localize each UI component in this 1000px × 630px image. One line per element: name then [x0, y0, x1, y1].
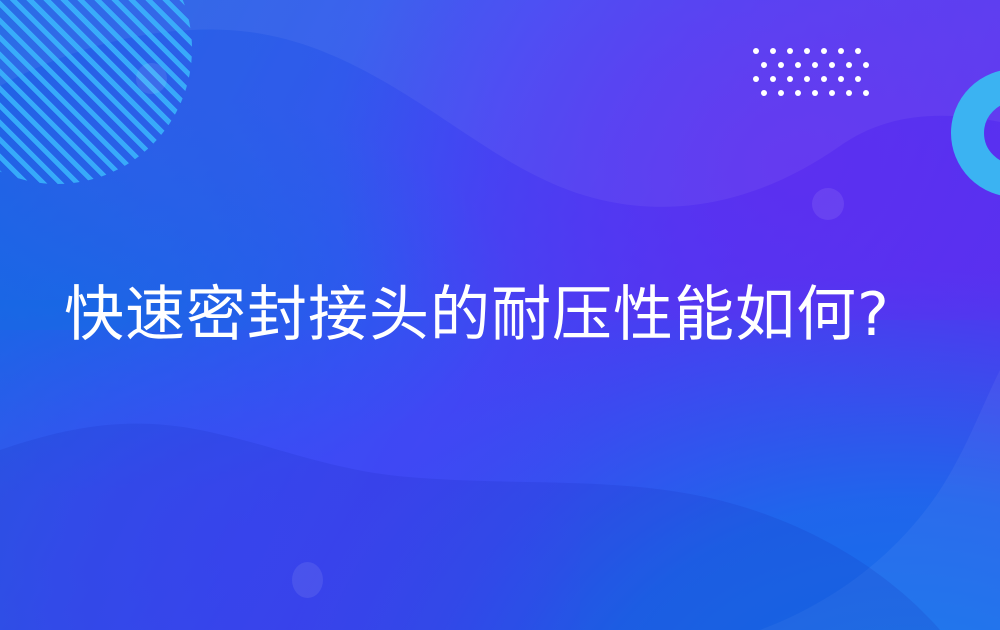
headline-container: 快速密封接头的耐压性能如何? — [0, 0, 1000, 630]
page-title: 快速密封接头的耐压性能如何? — [64, 281, 890, 350]
banner-canvas: 快速密封接头的耐压性能如何? — [0, 0, 1000, 630]
